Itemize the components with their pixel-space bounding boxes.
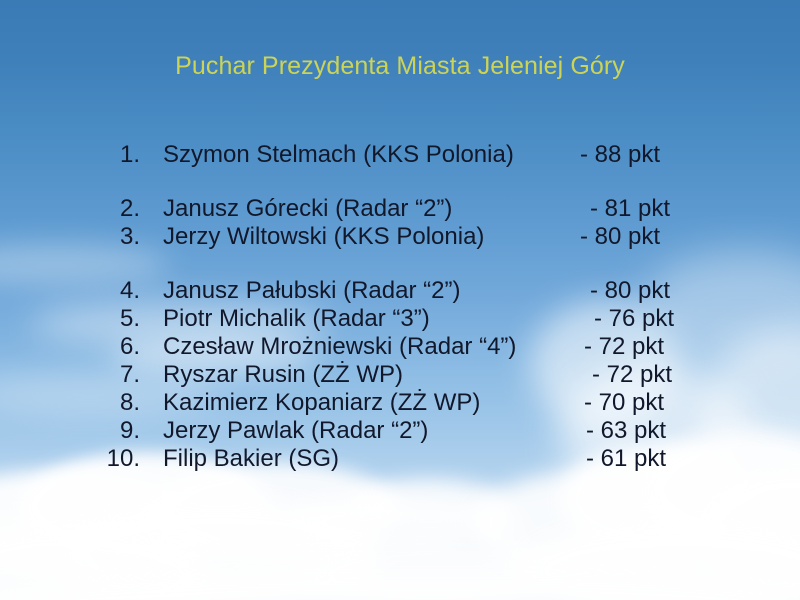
result-name: Jerzy Wiltowski (KKS Polonia) (163, 223, 484, 251)
result-row: 7. Ryszar Rusin (ZŻ WP) - 72 pkt (0, 361, 800, 389)
result-rank: 2. (78, 195, 140, 223)
result-rank: 7. (78, 361, 140, 389)
result-rank: 10. (78, 445, 140, 473)
result-points: - 88 pkt (580, 141, 660, 169)
result-name: Szymon Stelmach (KKS Polonia) (163, 141, 514, 169)
result-name: Czesław Mrożniewski (Radar “4”) (163, 333, 516, 361)
result-row: 9. Jerzy Pawlak (Radar “2”) - 63 pkt (0, 417, 800, 445)
result-rank: 9. (78, 417, 140, 445)
result-name: Piotr Michalik (Radar “3”) (163, 305, 430, 333)
result-points: - 70 pkt (584, 389, 664, 417)
result-points: - 80 pkt (590, 277, 670, 305)
result-row: 2. Janusz Górecki (Radar “2”) - 81 pkt (0, 195, 800, 223)
row-spacer (0, 169, 800, 195)
result-name: Filip Bakier (SG) (163, 445, 339, 473)
result-name: Jerzy Pawlak (Radar “2”) (163, 417, 428, 445)
result-rank: 5. (78, 305, 140, 333)
result-rank: 8. (78, 389, 140, 417)
result-row: 8. Kazimierz Kopaniarz (ZŻ WP) - 70 pkt (0, 389, 800, 417)
result-points: - 72 pkt (592, 361, 672, 389)
result-points: - 81 pkt (590, 195, 670, 223)
results-list: 1. Szymon Stelmach (KKS Polonia) - 88 pk… (0, 141, 800, 473)
result-rank: 3. (78, 223, 140, 251)
result-points: - 63 pkt (586, 417, 666, 445)
result-name: Janusz Pałubski (Radar “2”) (163, 277, 460, 305)
result-points: - 61 pkt (586, 445, 666, 473)
presentation-slide: Puchar Prezydenta Miasta Jeleniej Góry 1… (0, 0, 800, 600)
result-row: 10. Filip Bakier (SG) - 61 pkt (0, 445, 800, 473)
result-points: - 80 pkt (580, 223, 660, 251)
result-row: 6. Czesław Mrożniewski (Radar “4”) - 72 … (0, 333, 800, 361)
result-rank: 1. (78, 141, 140, 169)
result-row: 5. Piotr Michalik (Radar “3”) - 76 pkt (0, 305, 800, 333)
result-rank: 6. (78, 333, 140, 361)
result-points: - 72 pkt (584, 333, 664, 361)
result-name: Janusz Górecki (Radar “2”) (163, 195, 452, 223)
slide-title: Puchar Prezydenta Miasta Jeleniej Góry (0, 52, 800, 81)
result-row: 3. Jerzy Wiltowski (KKS Polonia) - 80 pk… (0, 223, 800, 251)
result-points: - 76 pkt (594, 305, 674, 333)
row-spacer (0, 251, 800, 277)
result-row: 1. Szymon Stelmach (KKS Polonia) - 88 pk… (0, 141, 800, 169)
result-rank: 4. (78, 277, 140, 305)
result-name: Ryszar Rusin (ZŻ WP) (163, 361, 403, 389)
result-name: Kazimierz Kopaniarz (ZŻ WP) (163, 389, 480, 417)
result-row: 4. Janusz Pałubski (Radar “2”) - 80 pkt (0, 277, 800, 305)
